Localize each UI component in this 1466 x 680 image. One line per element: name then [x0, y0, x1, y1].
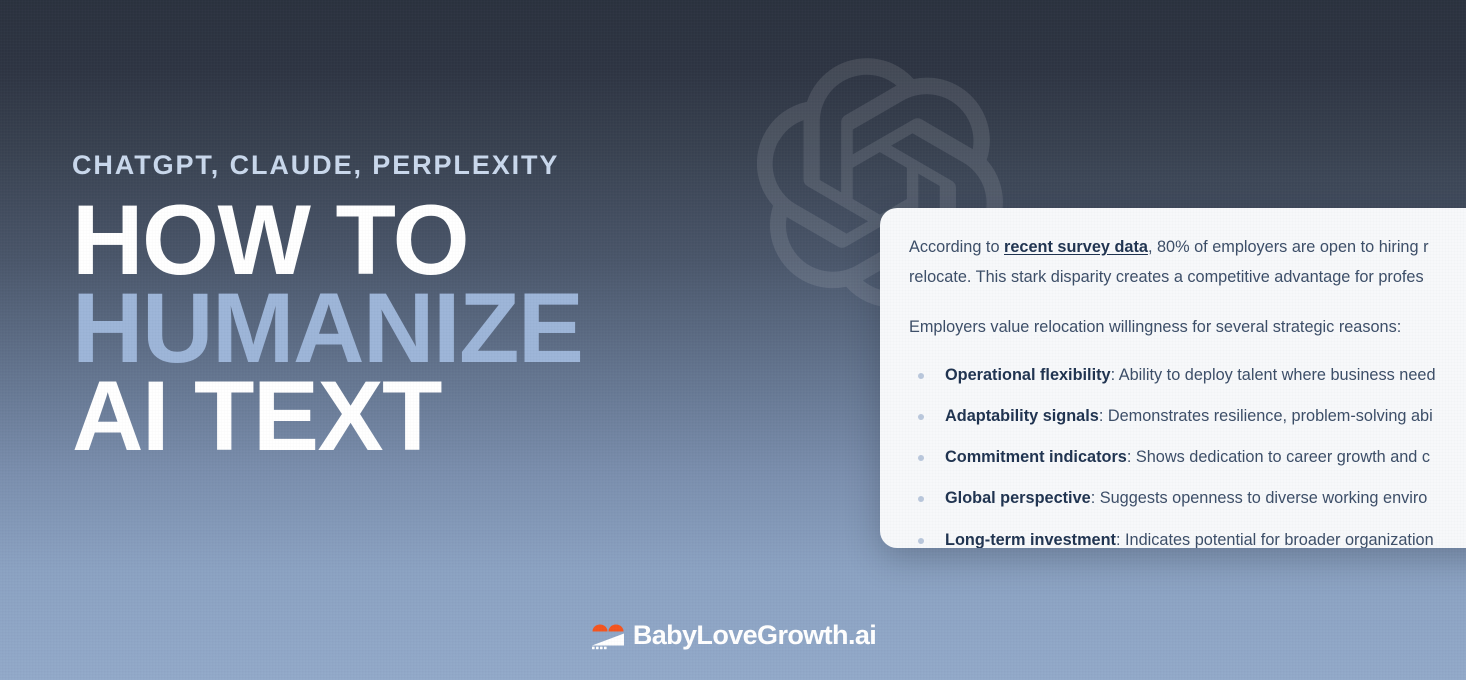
bullet-dot-icon — [918, 455, 924, 461]
bullet-term: Adaptability signals — [945, 407, 1099, 425]
hero-title-line-3: AI TEXT — [72, 369, 792, 463]
answer-bullet-list: Operational flexibility: Ability to depl… — [909, 365, 1466, 548]
poster-canvas: CHATGPT, CLAUDE, PERPLEXITY HOW TO HUMAN… — [0, 0, 1466, 680]
ai-answer-card: According to recent survey data, 80% of … — [880, 208, 1466, 548]
bullet-dot-icon — [918, 538, 924, 544]
answer-paragraph-2: Employers value relocation willingness f… — [909, 313, 1466, 343]
bullet-text: : Indicates potential for broader organi… — [1116, 531, 1434, 548]
list-item: Operational flexibility: Ability to depl… — [909, 365, 1466, 386]
bullet-term: Commitment indicators — [945, 448, 1127, 466]
footer-brand: BabyLoveGrowth.ai — [0, 620, 1466, 650]
bullet-text: : Suggests openness to diverse working e… — [1091, 489, 1428, 507]
hero-headline: CHATGPT, CLAUDE, PERPLEXITY HOW TO HUMAN… — [72, 152, 792, 463]
list-item: Adaptability signals: Demonstrates resil… — [909, 406, 1466, 427]
list-item: Global perspective: Suggests openness to… — [909, 488, 1466, 509]
list-item: Long-term investment: Indicates potentia… — [909, 530, 1466, 548]
answer-paragraph-1: According to recent survey data, 80% of … — [909, 233, 1466, 263]
bullet-term: Long-term investment — [945, 531, 1116, 548]
brand-name: BabyLoveGrowth.ai — [633, 622, 876, 649]
bullet-text: : Shows dedication to career growth and … — [1127, 448, 1430, 466]
answer-paragraph-1-line2: relocate. This stark disparity creates a… — [909, 263, 1466, 293]
answer-paragraph-1-pre: According to — [909, 238, 1004, 256]
bullet-term: Global perspective — [945, 489, 1091, 507]
bullet-text: : Ability to deploy talent where busines… — [1111, 366, 1436, 384]
recent-survey-data-link[interactable]: recent survey data — [1004, 238, 1148, 256]
bullet-text: : Demonstrates resilience, problem-solvi… — [1099, 407, 1433, 425]
answer-paragraph-1-post: , 80% of employers are open to hiring r — [1148, 238, 1429, 256]
bullet-dot-icon — [918, 496, 924, 502]
babylovegrowth-logo-icon — [590, 620, 626, 650]
bullet-dot-icon — [918, 414, 924, 420]
hero-kicker: CHATGPT, CLAUDE, PERPLEXITY — [72, 152, 792, 179]
bullet-term: Operational flexibility — [945, 366, 1111, 384]
list-item: Commitment indicators: Shows dedication … — [909, 447, 1466, 468]
bullet-dot-icon — [918, 373, 924, 379]
